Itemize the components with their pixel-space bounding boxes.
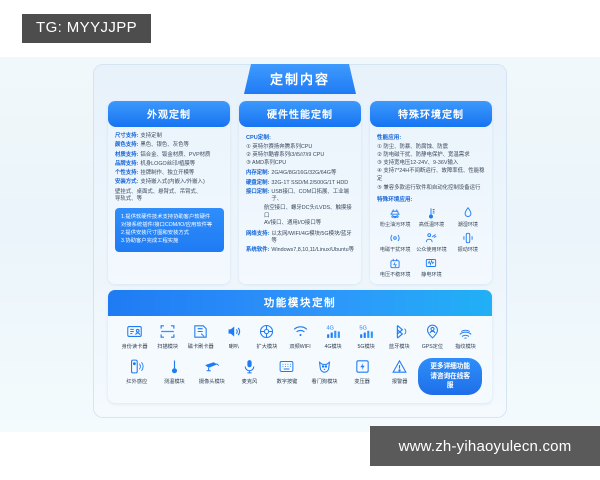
- module-label: 喇叭: [229, 343, 239, 350]
- performance-item: ① 防尘、防暴、防腐蚀、防震: [377, 143, 486, 151]
- column-appearance-title: 外观定制: [108, 101, 230, 127]
- spec-key: 硬盘定制:: [246, 180, 269, 187]
- watermark: www.zh-yihaoyulecn.com: [370, 426, 600, 466]
- 5g-module-icon: 5G: [357, 323, 376, 340]
- columns-container: 外观定制 尺寸支持: 支持定制 颜色支持: 黑色、银色、灰色等 材质支持: 铝合…: [108, 101, 492, 284]
- function-modules-title: 功能模块定制: [108, 290, 492, 316]
- cpu-item: ① 英特尔赛扬奔腾系列CPU: [246, 143, 355, 151]
- keypad-icon: [277, 358, 296, 375]
- module-label: 蓝牙模块: [389, 343, 410, 350]
- dust-oil-icon: [387, 206, 403, 220]
- public-use-icon: [423, 231, 439, 245]
- module-5g[interactable]: 5G 5G模块: [350, 323, 383, 350]
- env-label: 振动环境: [458, 246, 478, 253]
- thermometer-icon: [423, 206, 439, 220]
- env-label: 潮湿环境: [458, 221, 478, 228]
- svg-text:5G: 5G: [359, 325, 367, 331]
- function-modules-body: 身份读卡器 扫描模块 磁卡刷卡器: [108, 316, 492, 403]
- module-label: 指纹模块: [455, 343, 476, 350]
- spec-value: 32G-1T SSD/M.2/500G/1T HDD: [269, 180, 348, 187]
- module-fingerprint[interactable]: 指纹模块: [449, 323, 482, 350]
- env-item-humidity: 潮湿环境: [450, 206, 486, 228]
- column-special-environment-body: 性能应用: ① 防尘、防暴、防腐蚀、防震 ② 防电磁干扰、防静电保护、宽温需求 …: [370, 127, 492, 284]
- module-label: 4G模块: [324, 343, 341, 350]
- gps-icon: [423, 323, 442, 340]
- module-alarm[interactable]: 报警器: [381, 358, 419, 385]
- interface-extra-line: AV接口、通用I/O接口等: [246, 220, 355, 228]
- tg-tag: TG: MYYJJPP: [22, 14, 151, 43]
- more-button-line-2: 请咨询在线客服: [427, 372, 473, 391]
- spec-row: 材质支持: 铝合金、钣金材质、PVP材质: [115, 152, 224, 159]
- customization-card: 定制内容 外观定制 尺寸支持: 支持定制 颜色支持: 黑色、银色、灰色等: [94, 65, 506, 417]
- module-temperature[interactable]: 测温模块: [156, 358, 194, 385]
- spec-key: 接口定制:: [246, 189, 269, 203]
- banner-ribbon-wrap: 定制内容: [94, 64, 506, 94]
- column-special-environment: 特殊环境定制 性能应用: ① 防尘、防暴、防腐蚀、防震 ② 防电磁干扰、防静电保…: [370, 101, 492, 284]
- module-dual-wifi[interactable]: 双频WIFI: [283, 323, 316, 350]
- temperature-module-icon: [165, 358, 184, 375]
- transformer-icon: [353, 358, 372, 375]
- spec-key: 个性支持:: [115, 170, 138, 177]
- module-id-card-reader[interactable]: 身份读卡器: [118, 323, 151, 350]
- module-label: 5G模块: [358, 343, 375, 350]
- module-camera[interactable]: 摄像头模块: [193, 358, 231, 385]
- performance-item: ⑤ 兼容多款运行软件和自动化控制设备运行: [377, 184, 486, 192]
- env-item-unstable-power: 电压不稳环境: [377, 256, 413, 278]
- emi-icon: [387, 231, 403, 245]
- spec-row: 颜色支持: 黑色、银色、灰色等: [115, 142, 224, 149]
- environment-icon-grid: 粉尘油污环境 高低温环境 潮湿环境: [377, 206, 486, 278]
- id-card-reader-icon: [125, 323, 144, 340]
- module-label: 报警器: [392, 378, 408, 385]
- spec-value: Windows7,8,10,11/Linux/Ubuntu等: [269, 247, 354, 254]
- module-speaker[interactable]: 喇叭: [217, 323, 250, 350]
- module-label: 扩大模块: [257, 343, 278, 350]
- module-magnetic-card-reader[interactable]: 磁卡刷卡器: [184, 323, 217, 350]
- env-item-vibration: 振动环境: [450, 231, 486, 253]
- svg-text:4G: 4G: [326, 325, 334, 331]
- module-label: 测温模块: [164, 378, 185, 385]
- note-line: 对接系统插件/接口COM/IO/应用软件等: [121, 221, 218, 229]
- module-gps[interactable]: GPS定位: [416, 323, 449, 350]
- module-scan[interactable]: 扫描模块: [151, 323, 184, 350]
- bluetooth-icon: [390, 323, 409, 340]
- cpu-item: ② 英特尔酷睿系列i3/i5/i7/i9 CPU: [246, 151, 355, 159]
- module-label: 摄像头模块: [199, 378, 225, 385]
- alarm-icon: [390, 358, 409, 375]
- static-electricity-icon: [423, 256, 439, 270]
- module-label: 变压器: [354, 378, 370, 385]
- column-hardware-body: CPU定制: ① 英特尔赛扬奔腾系列CPU ② 英特尔酷睿系列i3/i5/i7/…: [239, 127, 361, 262]
- env-item-thermometer: 高低温环境: [413, 206, 449, 228]
- performance-item: ④ 支持7*24H不间断运行、故障率低、性能稳定: [377, 167, 486, 183]
- module-amplifier[interactable]: 扩大模块: [250, 323, 283, 350]
- module-watchdog[interactable]: 看门狗模块: [306, 358, 344, 385]
- spec-key: 系统软件:: [246, 247, 269, 254]
- column-appearance-body: 尺寸支持: 支持定制 颜色支持: 黑色、银色、灰色等 材质支持: 铝合金、钣金材…: [108, 127, 230, 258]
- more-button-line-1: 更多详细功能: [427, 362, 473, 372]
- banner-title: 定制内容: [244, 64, 356, 94]
- spec-row: 尺寸支持: 支持定制: [115, 133, 224, 140]
- module-microphone[interactable]: 麦克风: [231, 358, 269, 385]
- function-modules-row-1: 身份读卡器 扫描模块 磁卡刷卡器: [114, 323, 486, 350]
- env-label: 电压不稳环境: [380, 271, 411, 278]
- module-label: 麦克风: [242, 378, 258, 385]
- spec-value: 2G/4G/8G/16G/32G/64G等: [269, 170, 336, 177]
- unstable-power-icon: [387, 256, 403, 270]
- scan-module-icon: [158, 323, 177, 340]
- module-label: 数字按键: [277, 378, 298, 385]
- column-hardware: 硬件性能定制 CPU定制: ① 英特尔赛扬奔腾系列CPU ② 英特尔酷睿系列i3…: [239, 101, 361, 284]
- env-label: 电磁干扰环境: [380, 246, 411, 253]
- humidity-icon: [460, 206, 476, 220]
- env-item-dust-oil: 粉尘油污环境: [377, 206, 413, 228]
- env-item-public-use: 公众使用环境: [413, 231, 449, 253]
- dual-wifi-icon: [291, 323, 310, 340]
- column-appearance: 外观定制 尺寸支持: 支持定制 颜色支持: 黑色、银色、灰色等 材质支持: 铝合…: [108, 101, 230, 284]
- cpu-item: ③ AMD系列CPU: [246, 159, 355, 167]
- module-label: 身份读卡器: [122, 343, 148, 350]
- spec-key: 安装方式:: [115, 179, 138, 186]
- note-line: 1.提供软硬件技术支持协助客户软硬件: [121, 213, 218, 221]
- spec-row: 硬盘定制: 32G-1T SSD/M.2/500G/1T HDD: [246, 180, 355, 187]
- module-label: 扫描模块: [157, 343, 178, 350]
- function-modules-row-2: 红外感应 测温模块 摄像头模块: [114, 350, 486, 395]
- note-line: 2.提供安装尺寸图和安装方式: [121, 229, 218, 237]
- spec-row: 个性支持: 挂牌制作、独立开模等: [115, 170, 224, 177]
- appearance-note-box: 1.提供软硬件技术支持协助客户软硬件 对接系统插件/接口COM/IO/应用软件等…: [115, 208, 224, 252]
- column-hardware-title: 硬件性能定制: [239, 101, 361, 127]
- performance-item: ③ 支持宽电压12-24V、9-36V输入: [377, 159, 486, 167]
- module-keypad[interactable]: 数字按键: [268, 358, 306, 385]
- microphone-icon: [240, 358, 259, 375]
- env-label: 公众使用环境: [416, 246, 447, 253]
- spec-row: 品牌支持: 机身LOGO丝印/植膜等: [115, 161, 224, 168]
- module-label: 红外感应: [126, 378, 147, 385]
- spec-value: 黑色、银色、灰色等: [138, 142, 189, 149]
- spec-row: 系统软件: Windows7,8,10,11/Linux/Ubuntu等: [246, 247, 355, 254]
- fingerprint-icon: [456, 323, 475, 340]
- spec-value: 挂牌制作、独立开模等: [138, 170, 194, 177]
- spec-key: 材质支持:: [115, 152, 138, 159]
- amplifier-icon: [257, 323, 276, 340]
- spec-row: 接口定制: USB接口、COM口拓展、工业端子、: [246, 189, 355, 203]
- spec-value: 支持定制: [138, 133, 162, 140]
- module-label: 看门狗模块: [312, 378, 338, 385]
- magnetic-card-reader-icon: [191, 323, 210, 340]
- poster-background: 定制内容 外观定制 尺寸支持: 支持定制 颜色支持: 黑色、银色、灰色等: [0, 57, 600, 432]
- module-infrared-sensor[interactable]: 红外感应: [118, 358, 156, 385]
- environment-subtitle: 特殊环境应用:: [377, 195, 486, 203]
- module-label: 双频WIFI: [289, 343, 310, 350]
- module-label: GPS定位: [422, 343, 443, 350]
- column-special-environment-title: 特殊环境定制: [370, 101, 492, 127]
- spec-value: 机身LOGO丝印/植膜等: [138, 161, 195, 168]
- performance-item: ② 防电磁干扰、防静电保护、宽温需求: [377, 151, 486, 159]
- module-transformer[interactable]: 变压器: [343, 358, 381, 385]
- spec-value: 以太网/WIFI/4G模块/5G模块/蓝牙等: [269, 231, 355, 245]
- spec-value: 支持嵌入式(内嵌入/外嵌入): [138, 179, 204, 186]
- env-label: 高低温环境: [419, 221, 444, 228]
- interface-extra-line: 航空接口、螺牙DC头/LVDS、触摸接口: [246, 205, 355, 220]
- function-modules-panel: 功能模块定制 身份读卡器 扫描模块: [108, 290, 492, 403]
- spec-value: USB接口、COM口拓展、工业端子、: [269, 189, 355, 203]
- module-4g[interactable]: 4G 4G模块: [317, 323, 350, 350]
- spec-key: 内存定制:: [246, 170, 269, 177]
- watchdog-icon: [315, 358, 334, 375]
- install-extra-line: 导轨式、等: [115, 196, 224, 204]
- env-label: 粉尘油污环境: [380, 221, 411, 228]
- env-item-emi: 电磁干扰环境: [377, 231, 413, 253]
- more-details-button[interactable]: 更多详细功能 请咨询在线客服: [418, 358, 482, 395]
- spec-key: 网络支持:: [246, 231, 269, 245]
- module-bluetooth[interactable]: 蓝牙模块: [383, 323, 416, 350]
- spec-row: 内存定制: 2G/4G/8G/16G/32G/64G等: [246, 170, 355, 177]
- spec-row: 网络支持: 以太网/WIFI/4G模块/5G模块/蓝牙等: [246, 231, 355, 245]
- infrared-sensor-icon: [127, 358, 146, 375]
- env-label: 静电环境: [421, 271, 441, 278]
- module-label: 磁卡刷卡器: [188, 343, 214, 350]
- 4g-module-icon: 4G: [324, 323, 343, 340]
- performance-subtitle: 性能应用:: [377, 133, 486, 141]
- camera-module-icon: [202, 358, 221, 375]
- spec-value: 铝合金、钣金材质、PVP材质: [138, 152, 210, 159]
- env-item-static-electricity: 静电环境: [413, 256, 449, 278]
- cpu-subtitle: CPU定制:: [246, 133, 355, 141]
- speaker-icon: [224, 323, 243, 340]
- spec-row: 安装方式: 支持嵌入式(内嵌入/外嵌入): [115, 179, 224, 186]
- spec-key: 颜色支持:: [115, 142, 138, 149]
- note-line: 3.协助客户完成工程实施: [121, 237, 218, 245]
- vibration-icon: [460, 231, 476, 245]
- spec-key: 尺寸支持:: [115, 133, 138, 140]
- spec-key: 品牌支持:: [115, 161, 138, 168]
